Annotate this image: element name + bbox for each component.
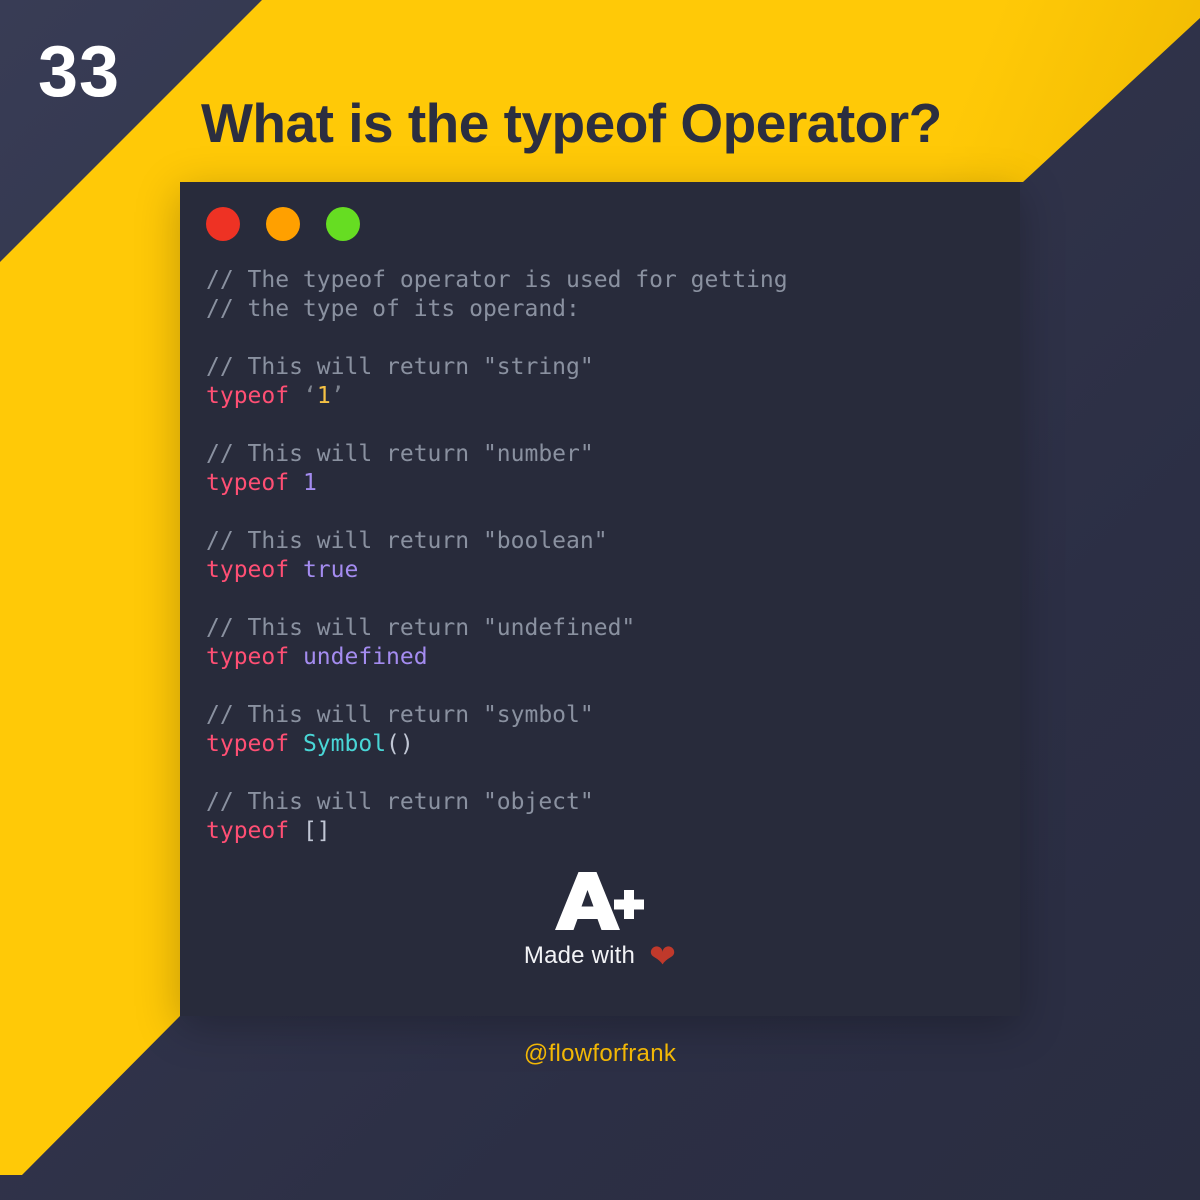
- made-with-label: Made with: [524, 942, 635, 970]
- code-token: // This will return "symbol": [206, 702, 594, 728]
- aplus-logo-icon: [554, 872, 646, 930]
- brand-block: Made with ❤: [180, 872, 1020, 972]
- code-line: // This will return "string": [206, 353, 1006, 382]
- code-token: // the type of its operand:: [206, 296, 580, 322]
- code-token: // This will return "undefined": [206, 615, 635, 641]
- slide-number: 33: [38, 36, 120, 108]
- code-token: // This will return "number": [206, 441, 594, 467]
- code-line: [206, 672, 1006, 701]
- code-token: []: [303, 818, 331, 844]
- code-line: // This will return "object": [206, 788, 1006, 817]
- code-token: typeof: [206, 731, 289, 757]
- heart-icon: ❤: [649, 940, 676, 972]
- code-token: [289, 470, 303, 496]
- code-window: // The typeof operator is used for getti…: [180, 182, 1020, 1016]
- code-token: [289, 644, 303, 670]
- code-line: typeof ‘1’: [206, 382, 1006, 411]
- code-line: [206, 585, 1006, 614]
- code-editor-content[interactable]: // The typeof operator is used for getti…: [206, 266, 1006, 846]
- code-token: ’: [331, 383, 345, 409]
- code-token: [289, 383, 303, 409]
- poster-canvas: 33 What is the typeof Operator? // The t…: [0, 0, 1200, 1200]
- code-token: Symbol: [303, 731, 386, 757]
- code-line: typeof Symbol(): [206, 730, 1006, 759]
- code-token: 1: [317, 383, 331, 409]
- code-token: // This will return "boolean": [206, 528, 608, 554]
- code-line: // This will return "symbol": [206, 701, 1006, 730]
- maximize-icon[interactable]: [326, 207, 360, 241]
- code-token: [289, 731, 303, 757]
- code-line: // This will return "number": [206, 440, 1006, 469]
- code-token: // The typeof operator is used for getti…: [206, 267, 788, 293]
- minimize-icon[interactable]: [266, 207, 300, 241]
- code-line: typeof true: [206, 556, 1006, 585]
- close-icon[interactable]: [206, 207, 240, 241]
- code-token: typeof: [206, 470, 289, 496]
- code-line: [206, 759, 1006, 788]
- code-line: // the type of its operand:: [206, 295, 1006, 324]
- code-token: // This will return "object": [206, 789, 594, 815]
- code-line: // This will return "undefined": [206, 614, 1006, 643]
- code-token: ‘: [303, 383, 317, 409]
- code-token: true: [303, 557, 358, 583]
- code-token: typeof: [206, 383, 289, 409]
- code-line: // The typeof operator is used for getti…: [206, 266, 1006, 295]
- code-token: [289, 818, 303, 844]
- code-line: typeof 1: [206, 469, 1006, 498]
- code-token: 1: [303, 470, 317, 496]
- code-token: undefined: [303, 644, 428, 670]
- window-titlebar: [206, 207, 360, 241]
- code-line: // This will return "boolean": [206, 527, 1006, 556]
- code-token: typeof: [206, 818, 289, 844]
- code-line: typeof []: [206, 817, 1006, 846]
- code-token: typeof: [206, 644, 289, 670]
- code-token: // This will return "string": [206, 354, 594, 380]
- page-title: What is the typeof Operator?: [201, 96, 942, 151]
- made-with-row: Made with ❤: [180, 940, 1020, 972]
- code-token: [289, 557, 303, 583]
- code-line: [206, 498, 1006, 527]
- code-token: typeof: [206, 557, 289, 583]
- code-line: [206, 324, 1006, 353]
- code-token: (): [386, 731, 414, 757]
- code-line: typeof undefined: [206, 643, 1006, 672]
- code-line: [206, 411, 1006, 440]
- author-handle[interactable]: @flowforfrank: [0, 1040, 1200, 1068]
